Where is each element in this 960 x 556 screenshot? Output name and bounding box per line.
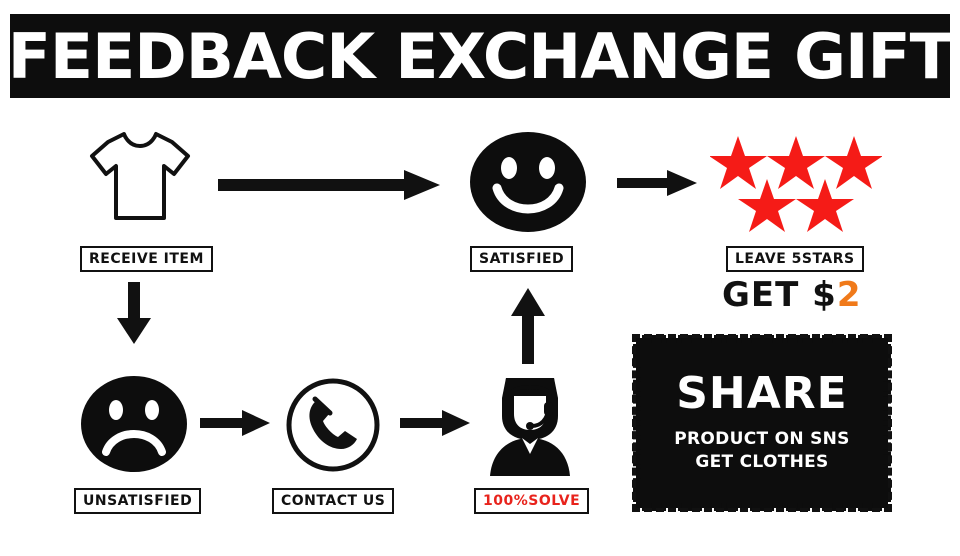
- five-stars-icon: [710, 134, 882, 234]
- reward-get-text: GET $: [722, 275, 837, 315]
- reward-value: 2: [837, 275, 862, 315]
- tshirt-icon: [86, 128, 194, 224]
- arrow-satisfied-to-stars: [617, 170, 697, 196]
- arrow-receive-to-unsatisfied: [117, 282, 151, 344]
- share-line-2: GET CLOTHES: [674, 451, 849, 474]
- infographic-canvas: FEEDBACK EXCHANGE GIFT RECEIVE ITEM SATI…: [0, 0, 960, 556]
- label-contact-us: CONTACT US: [272, 488, 394, 514]
- label-satisfied: SATISFIED: [470, 246, 573, 272]
- sad-face-icon: [78, 374, 190, 474]
- share-subtitle: PRODUCT ON SNS GET CLOTHES: [674, 428, 849, 474]
- arrow-unsatisfied-to-contact: [200, 410, 270, 436]
- share-line-1: PRODUCT ON SNS: [674, 428, 849, 451]
- label-solve: 100%SOLVE: [474, 488, 589, 514]
- support-agent-icon: [484, 372, 576, 478]
- share-title: SHARE: [676, 372, 848, 416]
- telephone-icon: [285, 377, 381, 473]
- label-receive-item: RECEIVE ITEM: [80, 246, 213, 272]
- share-promo-box: SHARE PRODUCT ON SNS GET CLOTHES: [636, 338, 888, 508]
- page-title: FEEDBACK EXCHANGE GIFT: [8, 20, 952, 93]
- reward-amount: GET $2: [722, 275, 862, 315]
- arrow-contact-to-solve: [400, 410, 470, 436]
- label-leave-5stars: LEAVE 5STARS: [726, 246, 864, 272]
- arrow-solve-to-satisfied: [511, 288, 545, 364]
- arrow-receive-to-satisfied: [218, 170, 440, 200]
- label-unsatisfied: UNSATISFIED: [74, 488, 201, 514]
- smiley-face-icon: [467, 130, 589, 234]
- title-banner: FEEDBACK EXCHANGE GIFT: [10, 14, 950, 98]
